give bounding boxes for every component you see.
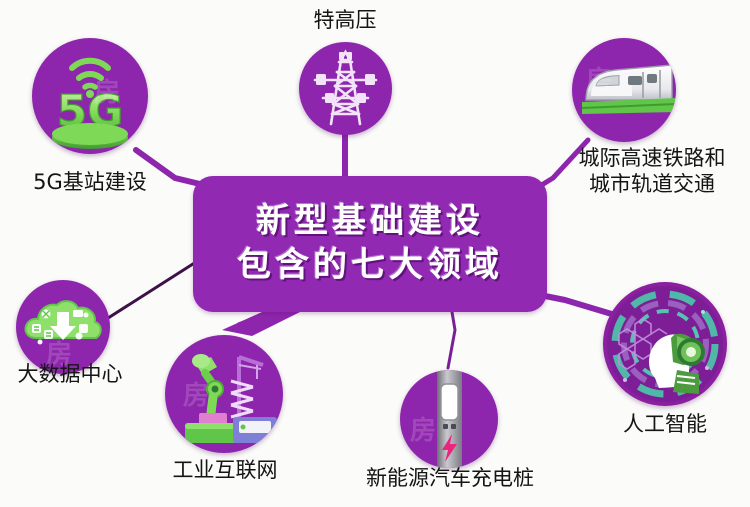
- node-ev-circle[interactable]: 房: [400, 370, 498, 468]
- node-rail-circle[interactable]: 房: [572, 38, 676, 142]
- industrial-robot-arm-icon: [165, 335, 283, 453]
- infographic-canvas: 新型基础建设 包含的七大领域: [0, 0, 750, 507]
- node-uhv-circle[interactable]: [299, 42, 392, 135]
- connector-bigdata: [105, 262, 196, 320]
- node-uhv-label: 特高压: [287, 8, 403, 34]
- cloud-download-icon: [16, 280, 110, 374]
- node-ai-label: 人工智能: [607, 412, 723, 438]
- title-line-2: 包含的七大领域: [237, 244, 503, 288]
- connector-ev: [448, 312, 455, 368]
- node-bigdata-circle[interactable]: 房: [16, 280, 110, 374]
- title-line-1: 新型基础建设: [256, 200, 484, 244]
- ev-charging-pile-icon: [400, 370, 498, 468]
- center-title-plate: 新型基础建设 包含的七大领域: [193, 176, 547, 312]
- node-5g-label: 5G基站建设: [14, 170, 166, 196]
- connector-iiot: [222, 312, 300, 336]
- power-pylon-icon: [299, 42, 392, 135]
- node-rail-label: 城际高速铁路和 城市轨道交通: [552, 146, 750, 197]
- high-speed-train-icon: [572, 38, 676, 142]
- node-iiot-circle[interactable]: 房: [165, 335, 283, 453]
- node-ai-circle[interactable]: [603, 282, 727, 406]
- 5g-tower-icon: 5G: [32, 38, 148, 154]
- node-ev-label: 新能源汽车充电桩: [355, 466, 545, 492]
- ai-robot-head-icon: [603, 282, 727, 406]
- node-5g-circle[interactable]: 5G 房: [32, 38, 148, 154]
- node-bigdata-label: 大数据中心: [0, 362, 140, 388]
- node-iiot-label: 工业互联网: [158, 458, 292, 484]
